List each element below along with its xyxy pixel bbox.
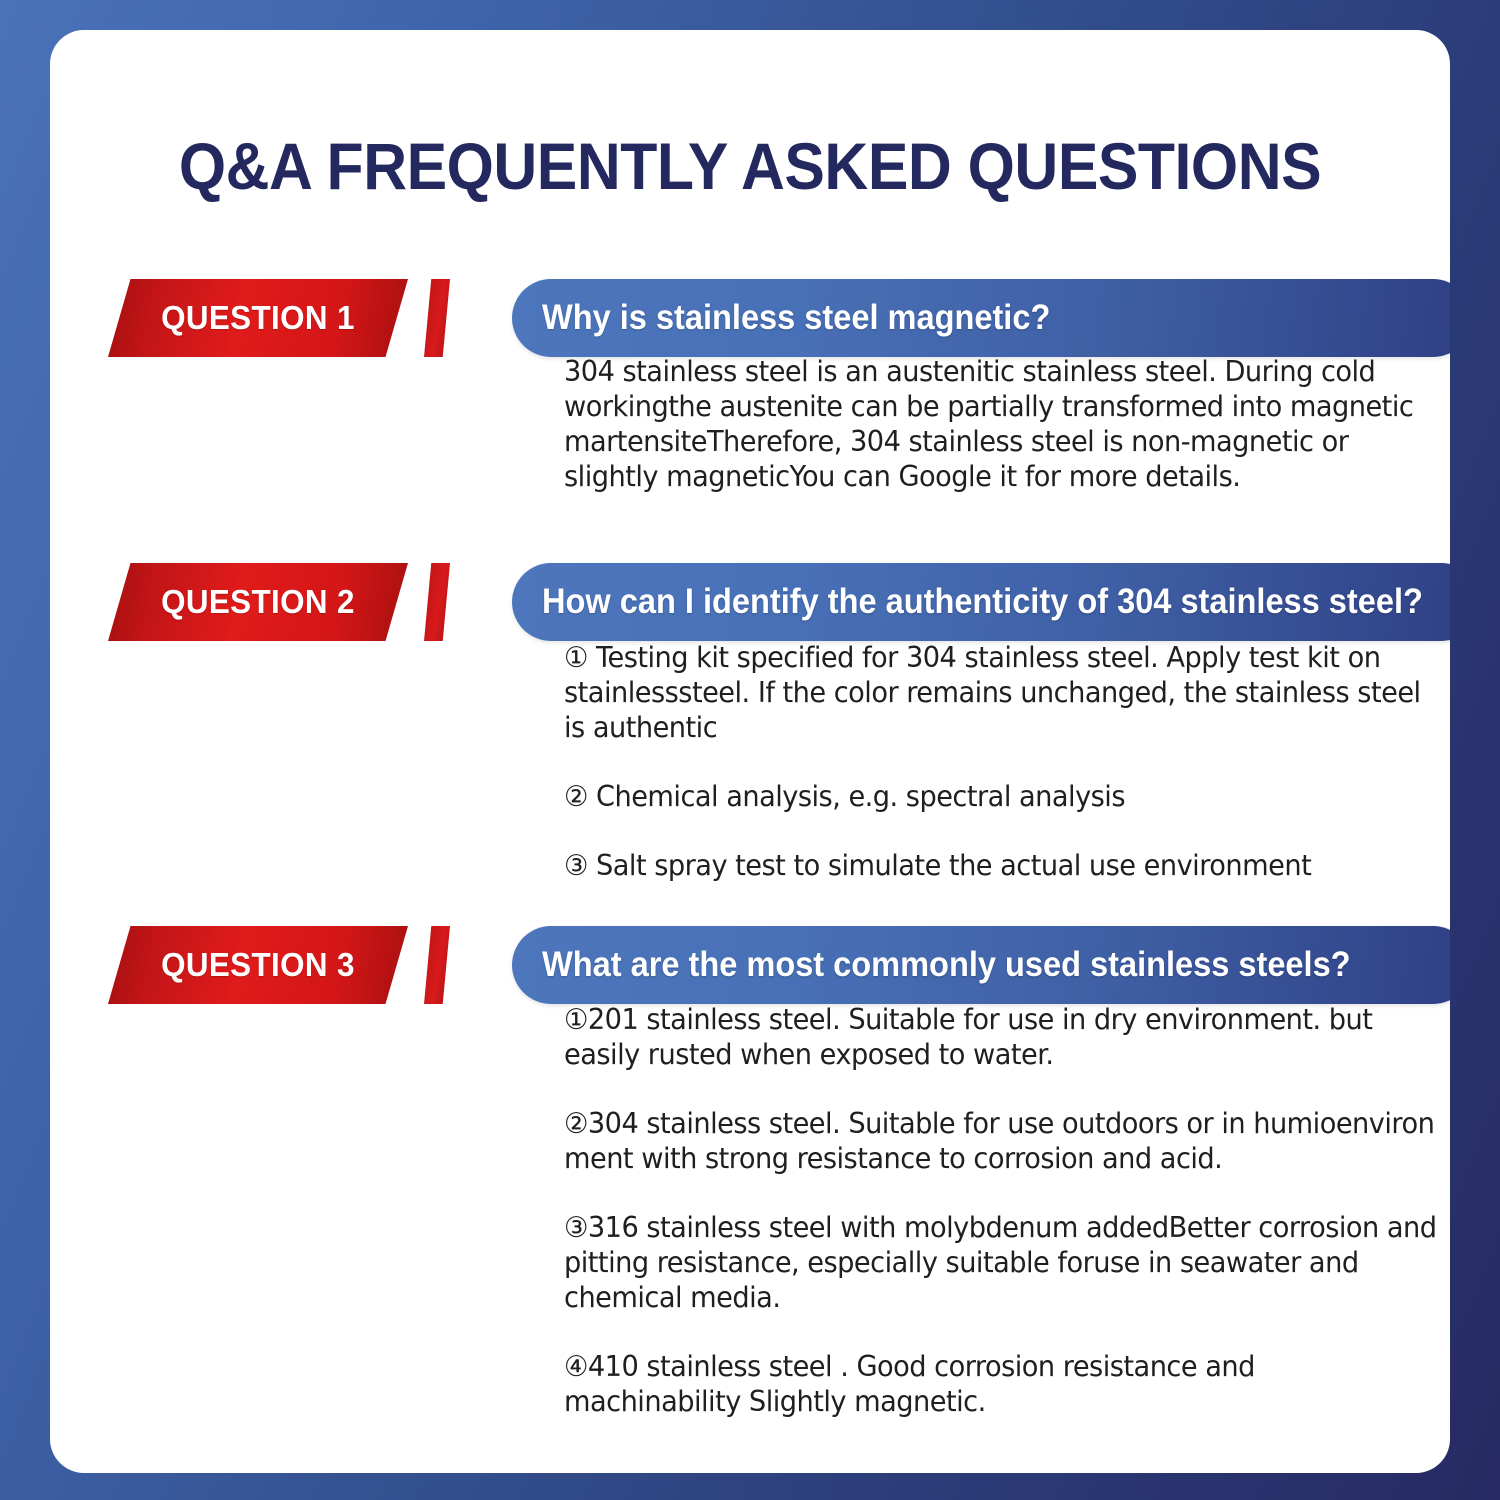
answer-paragraph: ②304 stainless steel. Suitable for use o… [564,1106,1438,1176]
question-badge-label-1: QUESTION 1 [161,299,355,337]
faq-card: Q&A FREQUENTLY ASKED QUESTIONS QUESTION … [50,30,1450,1473]
answer-block-3: ①201 stainless steel. Suitable for use i… [564,1002,1438,1419]
paragraph-gap [564,1315,1438,1349]
slash-divider-icon-2 [424,563,450,641]
question-badge-3[interactable]: QUESTION 3 [108,926,408,1004]
question-pill-3[interactable]: What are the most commonly used stainles… [512,926,1450,1004]
faq-header-2: QUESTION 2 How can I identify the authen… [50,563,1450,641]
answer-paragraph: 304 stainless steel is an austenitic sta… [564,354,1438,494]
answer-paragraph: ③316 stainless steel with molybdenum add… [564,1210,1438,1315]
faq-header-1: QUESTION 1 Why is stainless steel magnet… [50,279,1450,357]
question-pill-1[interactable]: Why is stainless steel magnetic? [512,279,1450,357]
question-pill-2[interactable]: How can I identify the authenticity of 3… [512,563,1450,641]
faq-header-3: QUESTION 3 What are the most commonly us… [50,926,1450,1004]
paragraph-gap [564,1176,1438,1210]
paragraph-gap [564,814,1438,848]
question-text-3: What are the most commonly used stainles… [542,945,1351,985]
question-text-2: How can I identify the authenticity of 3… [542,582,1423,622]
answer-paragraph: ① Testing kit specified for 304 stainles… [564,640,1438,745]
slash-divider-icon-3 [424,926,450,1004]
question-badge-label-3: QUESTION 3 [161,946,355,984]
answer-paragraph: ② Chemical analysis, e.g. spectral analy… [564,779,1438,814]
question-badge-2[interactable]: QUESTION 2 [108,563,408,641]
answer-block-1: 304 stainless steel is an austenitic sta… [564,354,1438,494]
slash-divider-icon-1 [424,279,450,357]
answer-paragraph: ③ Salt spray test to simulate the actual… [564,848,1438,883]
answer-paragraph: ①201 stainless steel. Suitable for use i… [564,1002,1438,1072]
paragraph-gap [564,1072,1438,1106]
question-badge-1[interactable]: QUESTION 1 [108,279,408,357]
question-text-1: Why is stainless steel magnetic? [542,298,1050,338]
answer-paragraph: ④410 stainless steel . Good corrosion re… [564,1349,1438,1419]
page-title: Q&A FREQUENTLY ASKED QUESTIONS [106,128,1394,204]
answer-block-2: ① Testing kit specified for 304 stainles… [564,640,1438,883]
paragraph-gap [564,745,1438,779]
question-badge-label-2: QUESTION 2 [161,583,355,621]
